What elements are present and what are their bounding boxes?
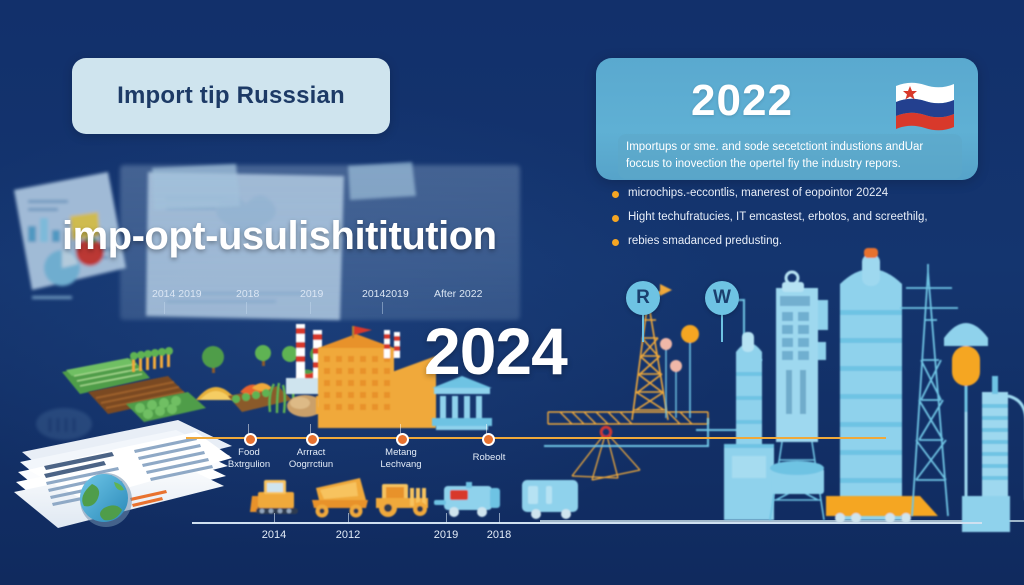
list-item: Hight techufratucies, IT emcastest, erbo… xyxy=(612,210,992,225)
timeline-category-line1: Arrract xyxy=(272,447,350,459)
document-card-icon xyxy=(152,162,416,210)
import-tip-box[interactable]: Import tip Russsian xyxy=(72,58,390,134)
storage-tank-icon xyxy=(724,332,774,520)
derrick-base-icon xyxy=(770,442,824,520)
vegetable-crate-icon xyxy=(126,392,206,422)
timeline-node[interactable] xyxy=(244,433,257,446)
timeline-bottom-tick xyxy=(446,513,447,523)
timeline-category-label: Metang Lechvang xyxy=(362,447,440,471)
green-produce-row-icon xyxy=(330,369,396,392)
gas-flare-icon xyxy=(660,325,699,418)
year-panel-subtitle: Importups or sme. and sode secetctiont i… xyxy=(618,134,962,179)
big-year-display: 2024 xyxy=(424,313,567,389)
tractor-icon xyxy=(376,484,428,517)
control-panel-icon xyxy=(770,272,828,520)
timeline-bottom-tick xyxy=(274,513,275,523)
timeline-category-label: Arrract Oogrrctiun xyxy=(272,447,350,471)
pipeline-icon xyxy=(544,300,762,446)
crop-rows-icon xyxy=(88,347,188,414)
bullet-text: microchips.-eccontlis, manerest of eopoi… xyxy=(628,186,888,201)
timeline-bottom-year: 2012 xyxy=(318,529,378,541)
farm-field-icon xyxy=(62,358,150,394)
timeline-axis xyxy=(186,437,886,439)
russian-flag-icon xyxy=(894,80,956,132)
badge-stem xyxy=(721,314,723,342)
timeline-category-line1: Robeolt xyxy=(450,452,528,464)
refinery-tower-icon xyxy=(840,248,902,520)
wheat-pile-icon xyxy=(196,387,236,400)
list-item: microchips.-eccontlis, manerest of eopoi… xyxy=(612,186,992,201)
tipper-truck-icon xyxy=(312,478,368,518)
timeline-category-line2: Oogrrctiun xyxy=(272,459,350,471)
timeline-node[interactable] xyxy=(482,433,495,446)
factory-icon xyxy=(318,326,436,428)
smokestack-icon xyxy=(286,324,336,394)
bus-icon xyxy=(522,480,578,519)
timeline-bottom-tick xyxy=(348,513,349,523)
timeline-tick xyxy=(164,302,165,314)
bulldozer-icon xyxy=(250,480,298,514)
badge-r-label: R xyxy=(636,287,650,309)
vegetable-crate-icon-2 xyxy=(228,383,292,412)
timeline-tick xyxy=(246,302,247,314)
timeline-bottom-tick xyxy=(499,513,500,523)
crane-icon xyxy=(548,412,708,424)
timeline-top-label: 2018 xyxy=(236,288,259,300)
bullet-dot-icon xyxy=(612,239,619,246)
watermark-icon xyxy=(36,408,92,440)
tomato-icon xyxy=(296,370,318,393)
page-title: imp-opt-usulishititution xyxy=(62,214,497,259)
timeline-category-label: Robeolt xyxy=(450,452,528,464)
timeline-tick xyxy=(310,302,311,314)
year-panel: 2022 Importups or sme. and sode secetcti… xyxy=(596,58,978,180)
bullet-list: microchips.-eccontlis, manerest of eopoi… xyxy=(612,186,992,258)
timeline-top-label: 20142019 xyxy=(362,288,409,300)
wheat-grass-icon xyxy=(270,383,324,417)
timeline-tick xyxy=(382,302,383,314)
bullet-text: rebies smadanced predusting. xyxy=(628,234,782,249)
badge-r[interactable]: R xyxy=(626,281,660,315)
timeline-top-label: 2019 xyxy=(300,288,323,300)
crane-icon-2 xyxy=(572,427,640,480)
timeline-bottom-axis xyxy=(192,522,982,524)
timeline-bottom-year: 2019 xyxy=(416,529,476,541)
flatbed-railcar-icon xyxy=(826,496,938,523)
timeline-bottom-year: 2018 xyxy=(469,529,529,541)
globe-icon xyxy=(80,473,132,527)
timeline-node[interactable] xyxy=(396,433,409,446)
badge-stem xyxy=(642,314,644,342)
timeline-category-line2: Lechvang xyxy=(362,459,440,471)
badge-w-label: W xyxy=(713,287,731,309)
infographic-canvas: Import tip Russsian 2022 Importups or sm… xyxy=(0,0,1024,585)
dump-truck-icon xyxy=(316,390,392,422)
timeline-category-line1: Metang xyxy=(362,447,440,459)
bullet-text: Hight techufratucies, IT emcastest, erbo… xyxy=(628,210,928,225)
timeline-top-label: After 2022 xyxy=(434,288,482,300)
timeline-node[interactable] xyxy=(306,433,319,446)
list-item: rebies smadanced predusting. xyxy=(612,234,992,249)
gas-lamp-icon xyxy=(944,323,1024,532)
transmission-tower-icon xyxy=(900,264,958,516)
bullet-dot-icon xyxy=(612,191,619,198)
timeline-bottom-year: 2014 xyxy=(244,529,304,541)
timeline-top-label: 2014 2019 xyxy=(152,288,202,300)
badge-w[interactable]: W xyxy=(705,281,739,315)
robot-vehicle-icon xyxy=(434,482,500,517)
tree-icon xyxy=(202,345,326,373)
import-tip-label: Import tip Russsian xyxy=(117,82,345,110)
bullet-dot-icon xyxy=(612,215,619,222)
